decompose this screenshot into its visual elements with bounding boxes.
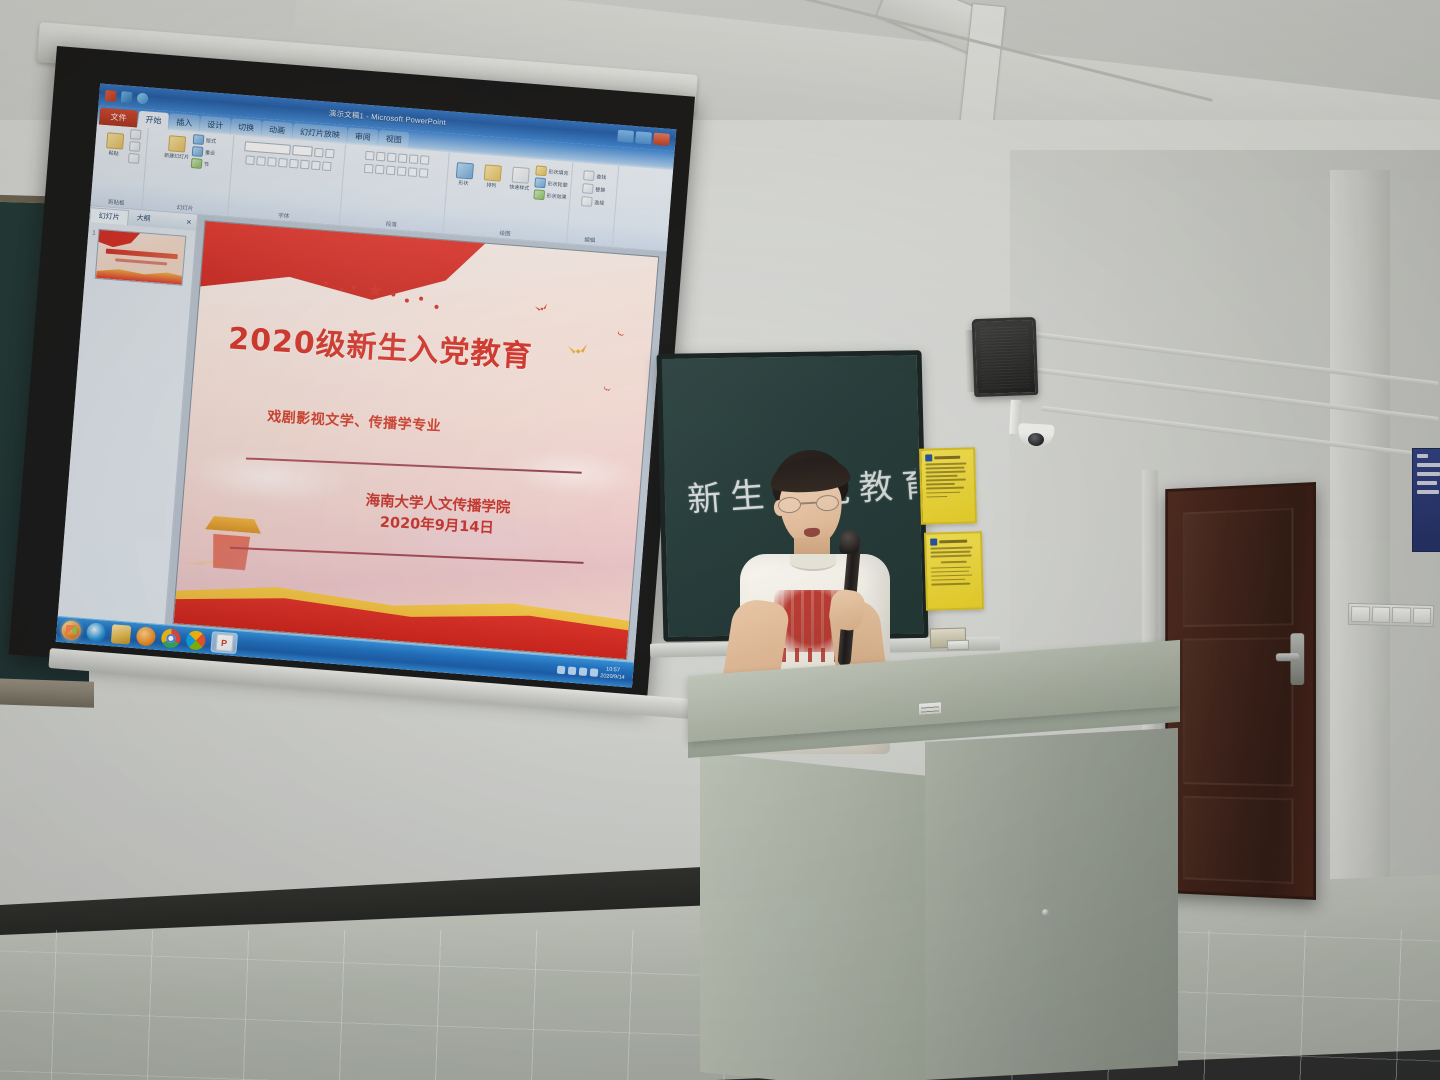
- glasses-lens: [778, 496, 802, 513]
- strikethrough-button[interactable]: [289, 159, 299, 169]
- maximize-button[interactable]: [635, 131, 652, 144]
- tray-icon[interactable]: [567, 666, 576, 675]
- shapes-button[interactable]: 形状: [450, 159, 478, 191]
- thumbnail-flag: [95, 229, 142, 249]
- chrome-icon[interactable]: [161, 628, 181, 648]
- increase-font-size-button[interactable]: [314, 147, 324, 157]
- new-slide-label: 新建幻灯片: [164, 152, 189, 161]
- ribbon-group-font: 字体: [228, 135, 346, 225]
- browser-icon[interactable]: [186, 630, 206, 650]
- italic-button[interactable]: [256, 156, 266, 166]
- internet-explorer-icon[interactable]: [86, 622, 106, 642]
- select-icon[interactable]: [581, 196, 593, 207]
- lectern-label-plate: [918, 701, 942, 716]
- sign-header: [930, 537, 976, 545]
- align-left-button[interactable]: [363, 164, 373, 174]
- powerpoint-icon: P: [215, 633, 233, 651]
- section-label: 节: [204, 161, 210, 168]
- copy-icon[interactable]: [129, 141, 141, 152]
- wall-speaker: [972, 317, 1039, 397]
- shapes-label: 形状: [458, 179, 469, 187]
- bold-button[interactable]: [245, 155, 255, 165]
- font-size-combo[interactable]: [292, 145, 313, 157]
- door-panel: [1183, 796, 1294, 884]
- star-dot: [391, 292, 395, 296]
- arrange-icon: [483, 164, 501, 181]
- save-icon[interactable]: [121, 91, 133, 103]
- clock-date: 2020/9/14: [600, 673, 625, 681]
- shadow-button[interactable]: [278, 158, 288, 168]
- group-label-clipboard: 剪贴板: [91, 196, 142, 208]
- new-slide-icon: [168, 135, 186, 152]
- reset-label: 重设: [205, 149, 216, 157]
- shapes-icon: [455, 162, 473, 179]
- bullets-button[interactable]: [364, 151, 374, 161]
- door-handle[interactable]: [1276, 653, 1299, 661]
- glasses-bridge: [801, 502, 816, 504]
- lectern-label-text: [921, 704, 939, 712]
- paste-icon: [106, 132, 124, 149]
- light-switch-panel[interactable]: [1348, 603, 1435, 627]
- quick-styles-label: 快速样式: [509, 183, 530, 192]
- slide-organization: 海南大学人文传播学院: [365, 493, 511, 516]
- thumbnail-sub-line: [115, 258, 167, 265]
- minimize-button[interactable]: [617, 130, 634, 143]
- powerpoint-window: 演示文稿1 - Microsoft PowerPoint 文件 开始 插入 设计…: [56, 84, 677, 688]
- yellow-notice-sign-bottom: [924, 531, 984, 610]
- line-spacing-button[interactable]: [408, 154, 418, 164]
- lectern-side-panel: [925, 728, 1178, 1080]
- system-tray: 10:57 2020/9/14: [556, 663, 628, 681]
- glasses-icon: [778, 494, 843, 513]
- shirt-print-text: [782, 648, 840, 662]
- font-color-button[interactable]: [321, 161, 331, 171]
- pane-tab-outline[interactable]: 大纲: [128, 210, 159, 226]
- thumbnail-wave: [96, 265, 183, 285]
- star-dot: [339, 287, 343, 291]
- power-outlet[interactable]: [1392, 607, 1411, 623]
- close-button[interactable]: [653, 133, 670, 146]
- close-pane-icon[interactable]: ×: [186, 217, 197, 228]
- wall-pillar: [1330, 170, 1390, 930]
- file-explorer-icon[interactable]: [111, 624, 131, 644]
- yellow-notice-sign-top: [919, 447, 977, 524]
- powerpoint-workspace: 幻灯片 大纲 × 1: [57, 206, 666, 666]
- change-case-button[interactable]: [311, 161, 321, 171]
- sign-title-bar: [939, 540, 967, 544]
- light-switch[interactable]: [1371, 606, 1390, 622]
- sign-badge-icon: [925, 454, 932, 461]
- shape-outline-icon[interactable]: [534, 177, 546, 188]
- align-right-button[interactable]: [385, 165, 395, 175]
- quick-styles-icon: [511, 167, 529, 184]
- star-dot: [405, 298, 409, 302]
- classroom-door[interactable]: [1165, 482, 1316, 900]
- shape-fill-label: 形状填充: [548, 168, 569, 177]
- ribbon-group-slides: 新建幻灯片 版式 重设: [142, 129, 234, 217]
- left-chalkboard-ledge: [0, 678, 94, 707]
- thumbnail-list-item[interactable]: 1: [84, 222, 196, 292]
- decrease-font-size-button[interactable]: [325, 148, 335, 158]
- sign-header: [925, 453, 969, 461]
- slide-date: 2020年9月14日: [379, 515, 494, 537]
- lectern-front-panel: [700, 752, 925, 1080]
- slide-editing-stage[interactable]: 2020级新生入党教育 戏剧影视文学、传播学专业 海南大学人文传播学院 2020…: [165, 215, 666, 666]
- layout-label: 版式: [206, 137, 217, 145]
- sign-title-bar: [934, 456, 960, 460]
- select-label: 选择: [594, 199, 605, 207]
- text-direction-button[interactable]: [419, 155, 429, 165]
- align-center-button[interactable]: [374, 165, 384, 175]
- pane-tab-slides[interactable]: 幻灯片: [89, 207, 129, 225]
- door-panel: [1183, 508, 1294, 627]
- arrange-label: 排列: [486, 182, 497, 190]
- microphone-head-icon: [839, 529, 860, 555]
- increase-indent-button[interactable]: [397, 153, 407, 163]
- arrange-button[interactable]: 排列: [478, 161, 506, 193]
- sign-badge-icon: [930, 538, 937, 545]
- media-player-icon[interactable]: [136, 626, 156, 646]
- ribbon-group-paragraph: 段落: [340, 144, 450, 233]
- ribbon-group-drawing: 形状 排列 快速样式 形状填充: [443, 152, 573, 243]
- justify-button[interactable]: [396, 166, 406, 176]
- layout-icon[interactable]: [193, 134, 205, 145]
- star-dot: [419, 297, 423, 301]
- find-label: 查找: [596, 173, 607, 181]
- reset-icon[interactable]: [192, 146, 204, 157]
- group-label-editing: 编辑: [567, 234, 612, 246]
- classroom-photo-scene: 演示文稿1 - Microsoft PowerPoint 文件 开始 插入 设计…: [0, 0, 1440, 1080]
- format-painter-icon[interactable]: [128, 153, 140, 164]
- star-dot: [352, 285, 356, 289]
- ribbon-group-clipboard: 粘贴 剪贴板: [90, 124, 148, 209]
- blue-notice-sign: [1412, 448, 1440, 552]
- character-spacing-button[interactable]: [300, 160, 310, 170]
- find-icon[interactable]: [583, 170, 595, 181]
- quick-styles-button[interactable]: 快速样式: [506, 163, 534, 195]
- power-outlet[interactable]: [1412, 608, 1431, 624]
- shirt-collar: [790, 554, 836, 571]
- undo-icon[interactable]: [137, 92, 149, 104]
- projection-screen: 演示文稿1 - Microsoft PowerPoint 文件 开始 插入 设计…: [9, 46, 695, 705]
- powerpoint-logo-icon: [105, 90, 117, 102]
- network-icon[interactable]: [578, 667, 587, 676]
- shape-fill-icon[interactable]: [535, 165, 547, 176]
- columns-button[interactable]: [407, 167, 417, 177]
- font-family-combo[interactable]: [244, 141, 291, 155]
- window-controls: [617, 130, 670, 146]
- current-slide[interactable]: 2020级新生入党教育 戏剧影视文学、传播学专业 海南大学人文传播学院 2020…: [173, 220, 660, 660]
- replace-label: 替换: [595, 186, 606, 194]
- replace-icon[interactable]: [582, 183, 594, 194]
- thumbnail-number: 1: [92, 228, 96, 236]
- taskbar-clock[interactable]: 10:57 2020/9/14: [600, 666, 625, 681]
- new-slide-button[interactable]: 新建幻灯片: [163, 132, 191, 164]
- underline-button[interactable]: [267, 157, 277, 167]
- glasses-lens: [816, 494, 840, 511]
- blackboard-eraser[interactable]: [947, 640, 969, 651]
- volume-icon[interactable]: [589, 668, 598, 677]
- shape-outline-label: 形状轮廓: [547, 180, 568, 189]
- five-pointed-star-icon: [367, 282, 383, 298]
- star-dot: [324, 281, 328, 285]
- section-icon[interactable]: [191, 158, 203, 169]
- paste-label: 粘贴: [108, 149, 119, 157]
- slide-thumbnail[interactable]: [95, 229, 187, 286]
- shape-effects-label: 形状效果: [546, 192, 567, 201]
- powerpoint-taskbar-button[interactable]: P: [210, 631, 238, 654]
- paste-button[interactable]: 粘贴: [100, 129, 128, 161]
- start-orb-icon[interactable]: [61, 620, 81, 640]
- decrease-indent-button[interactable]: [386, 153, 396, 163]
- star-dot: [434, 305, 438, 309]
- ribbon-group-editing: 查找 替换 选择 编辑: [567, 162, 619, 246]
- lectern-lock-icon[interactable]: [1042, 909, 1049, 916]
- tray-icon[interactable]: [556, 665, 565, 674]
- shape-effects-icon[interactable]: [533, 189, 545, 200]
- convert-smartart-button[interactable]: [418, 168, 428, 178]
- cut-icon[interactable]: [130, 129, 142, 140]
- light-switch[interactable]: [1351, 606, 1370, 622]
- numbering-button[interactable]: [375, 152, 385, 162]
